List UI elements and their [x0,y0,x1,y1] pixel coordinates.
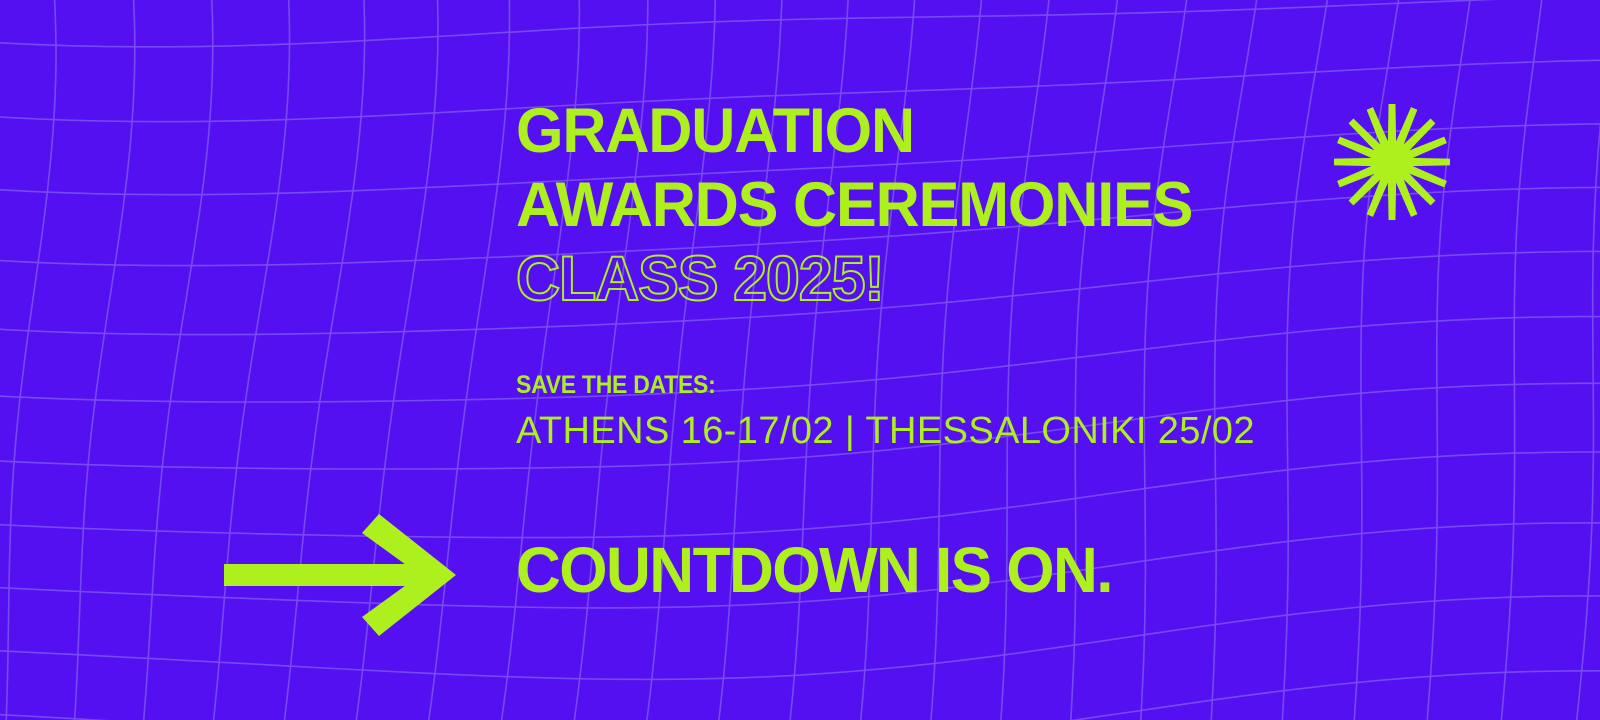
poster-content: GRADUATION AWARDS CEREMONIES CLASS 2025!… [0,0,1600,720]
starburst-icon [1333,103,1451,221]
headline-line-3-outline: CLASS 2025! [516,242,1192,316]
arrow-right-icon [224,514,456,636]
headline-line-2: AWARDS CEREMONIES [516,168,1192,242]
save-the-dates-block: SAVE THE DATES: ATHENS 16-17/02 | THESSA… [516,370,1255,454]
save-the-dates-label: SAVE THE DATES: [516,370,1196,400]
headline-block: GRADUATION AWARDS CEREMONIES CLASS 2025! [516,94,1213,316]
event-dates-value: ATHENS 16-17/02 | THESSALONIKI 25/02 [516,408,1255,454]
promo-poster: GRADUATION AWARDS CEREMONIES CLASS 2025!… [0,0,1600,720]
headline-line-1: GRADUATION [516,94,1192,168]
countdown-cta-text: COUNTDOWN IS ON. [516,533,1112,607]
